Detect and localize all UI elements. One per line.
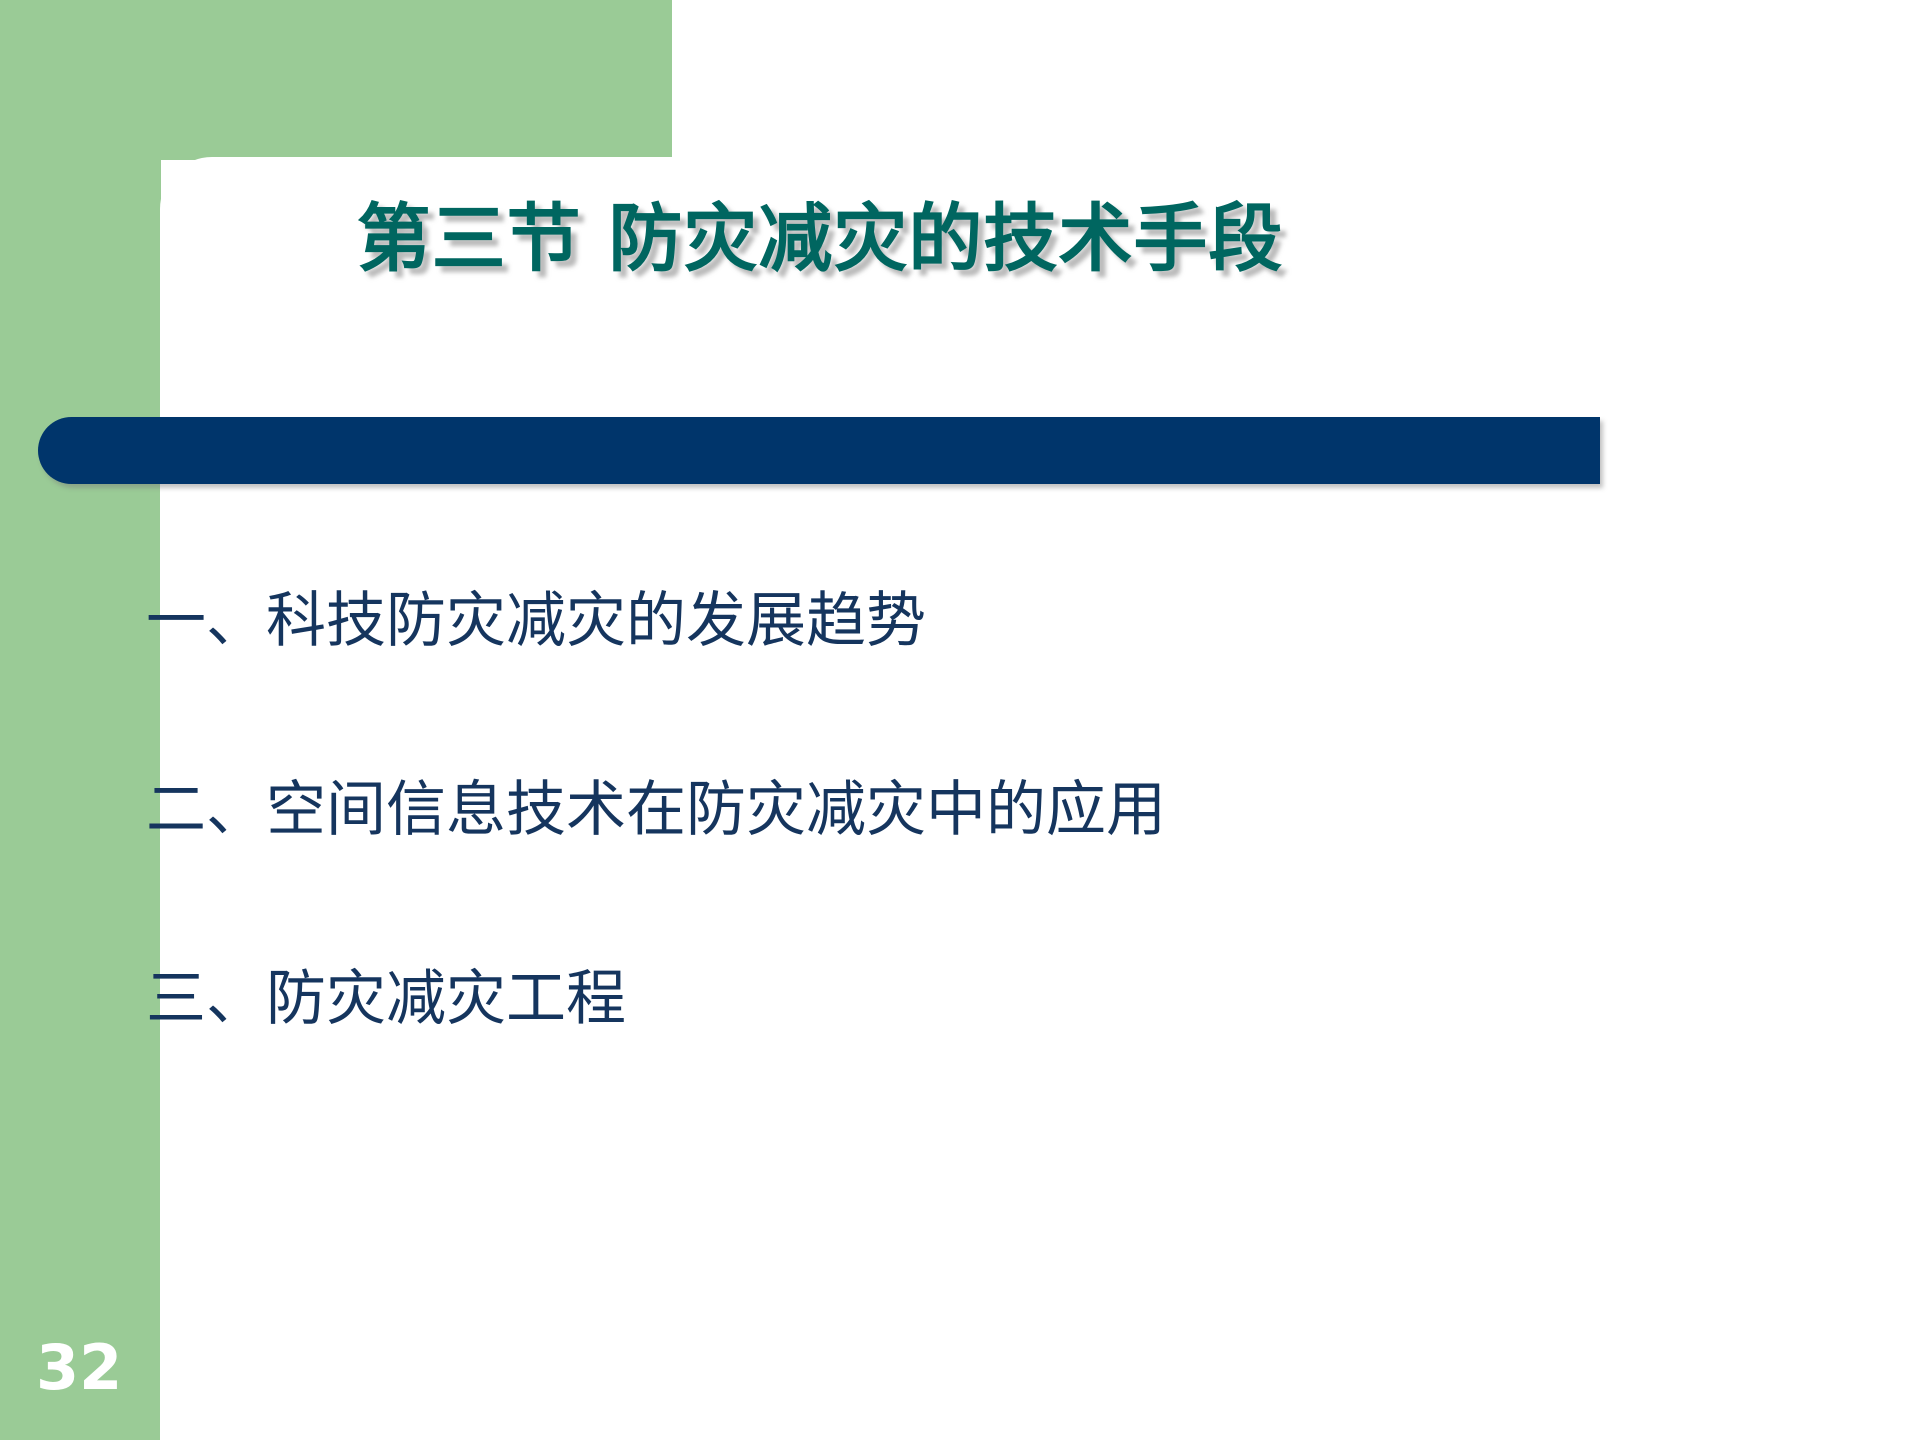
list-item: 三、防灾减灾工程 [146,968,1846,1031]
navy-divider-bar [38,417,1600,484]
page-number: 32 [36,1337,122,1399]
slide-canvas: 第三节 防灾减灾的技术手段 一、科技防灾减灾的发展趋势 二、空间信息技术在防灾减… [0,0,1920,1440]
list-item: 一、科技防灾减灾的发展趋势 [146,590,1846,653]
outline-list: 一、科技防灾减灾的发展趋势 二、空间信息技术在防灾减灾中的应用 三、防灾减灾工程 [146,560,1846,1031]
green-left-column [0,0,161,1440]
list-item: 二、空间信息技术在防灾减灾中的应用 [146,779,1846,842]
slide-title: 第三节 防灾减灾的技术手段 [160,200,1480,280]
